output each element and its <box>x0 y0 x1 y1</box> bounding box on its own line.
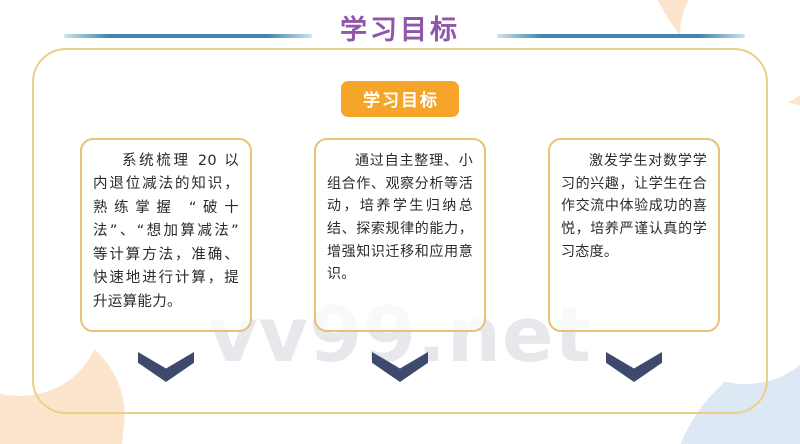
page-title: 学习目标 <box>0 8 800 47</box>
objective-card: 通过自主整理、小组合作、观察分析等活动，培养学生归纳总结、探索规律的能力，增强知… <box>314 138 486 332</box>
objective-card: 激发学生对数学学习的兴趣，让学生在合作交流中体验成功的喜悦，培养严谨认真的学习态… <box>548 138 720 332</box>
objective-card-text: 通过自主整理、小组合作、观察分析等活动，培养学生归纳总结、探索规律的能力，增强知… <box>327 150 473 286</box>
slide-root: 学习目标 学习目标 vv99.net 系统梳理 20 以内退位减法的知识，熟练掌… <box>0 0 800 444</box>
objective-card: 系统梳理 20 以内退位减法的知识，熟练掌握 “破十法”、“想加算减法” 等计算… <box>80 138 252 332</box>
chevron-row <box>80 352 720 382</box>
objective-card-text: 系统梳理 20 以内退位减法的知识，熟练掌握 “破十法”、“想加算减法” 等计算… <box>93 150 239 314</box>
chevron-slot <box>314 352 486 382</box>
chevron-down-icon <box>138 352 194 382</box>
chevron-down-icon <box>606 352 662 382</box>
chevron-slot <box>548 352 720 382</box>
section-badge: 学习目标 <box>341 81 459 117</box>
objective-card-text: 激发学生对数学学习的兴趣，让学生在合作交流中体验成功的喜悦，培养严谨认真的学习态… <box>561 150 707 263</box>
chevron-slot <box>80 352 252 382</box>
objective-card-list: 系统梳理 20 以内退位减法的知识，熟练掌握 “破十法”、“想加算减法” 等计算… <box>80 138 720 332</box>
chevron-down-icon <box>372 352 428 382</box>
